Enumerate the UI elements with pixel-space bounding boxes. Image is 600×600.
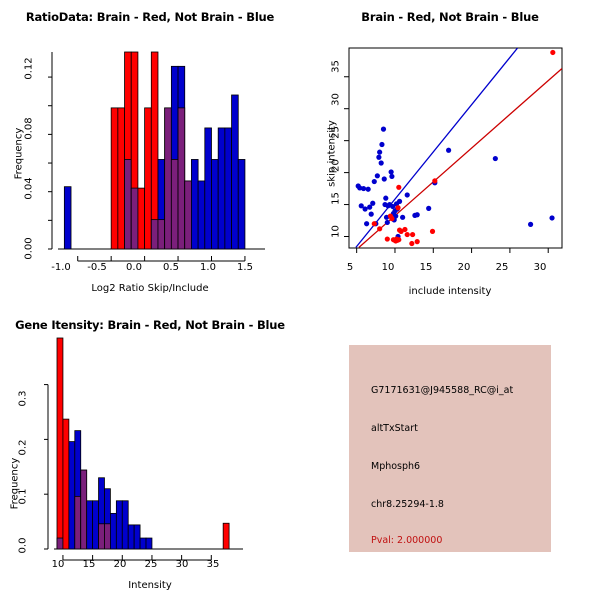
gene-info-panel: G7171631@J945588_RC@i_at altTxStart Mpho… <box>349 345 551 552</box>
info-locus: chr8.25294-1.8 <box>371 499 444 510</box>
gene-histogram-plot <box>0 300 310 600</box>
info-event-type: altTxStart <box>371 423 418 434</box>
info-gene-symbol: Mphosph6 <box>371 461 420 472</box>
ratio-histogram-panel: RatioData: Brain - Red, Not Brain - Blue… <box>0 0 300 300</box>
scatter-panel: Brain - Red, Not Brain - Blue skip inten… <box>300 0 600 300</box>
info-probe-id: G7171631@J945588_RC@i_at <box>371 385 513 396</box>
ratio-histogram-plot <box>0 0 300 300</box>
scatter-plot <box>300 0 600 300</box>
gene-histogram-panel: Gene Itensity: Brain - Red, Not Brain - … <box>0 300 310 600</box>
info-pval: Pval: 2.000000 <box>371 535 442 546</box>
